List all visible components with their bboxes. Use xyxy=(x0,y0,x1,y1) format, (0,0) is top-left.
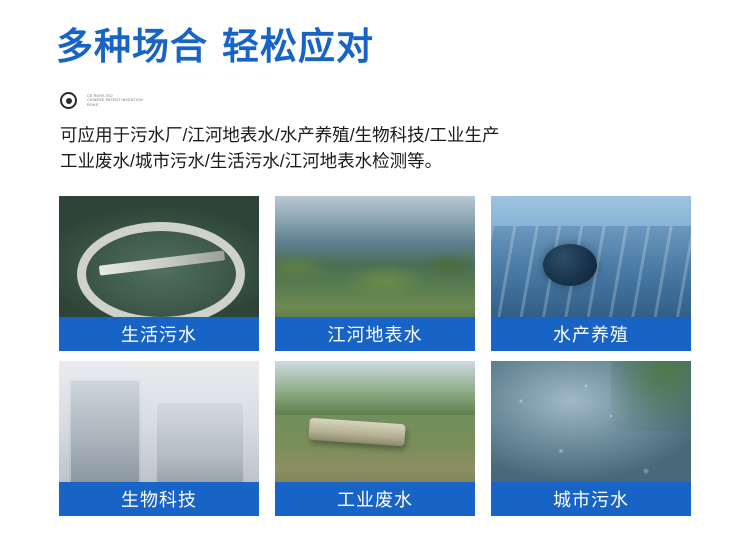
promo-page: 多种场合轻松应对 CE ROHS ISO CHINESE PATENT INVE… xyxy=(0,0,750,541)
description-line-1: 可应用于污水厂/江河地表水/水产养殖/生物科技/工业生产 xyxy=(60,122,499,148)
application-card[interactable]: 城市污水 xyxy=(491,361,691,516)
card-label: 城市污水 xyxy=(491,482,691,516)
certification-line-3: ROHS xyxy=(87,103,98,107)
page-title-part2: 轻松应对 xyxy=(222,26,374,67)
page-title-part1: 多种场合 xyxy=(56,26,208,67)
application-card[interactable]: 生物科技 xyxy=(59,361,259,516)
circle-dot-icon xyxy=(60,92,77,109)
card-label: 生物科技 xyxy=(59,482,259,516)
application-card[interactable]: 工业废水 xyxy=(275,361,475,516)
application-grid: 生活污水 江河地表水 水产养殖 生物科技 工业废水 城市污水 xyxy=(59,196,693,516)
bullet-row: CE ROHS ISO CHINESE PATENT INVENTION ROH… xyxy=(60,92,143,109)
card-label: 工业废水 xyxy=(275,482,475,516)
card-label: 水产养殖 xyxy=(491,317,691,351)
description-line-2: 工业废水/城市污水/生活污水/江河地表水检测等。 xyxy=(60,148,499,174)
application-card[interactable]: 水产养殖 xyxy=(491,196,691,351)
certification-line-1: CE ROHS ISO xyxy=(87,94,113,98)
certification-caption: CE ROHS ISO CHINESE PATENT INVENTION ROH… xyxy=(87,94,143,108)
card-label: 生活污水 xyxy=(59,317,259,351)
page-title: 多种场合轻松应对 xyxy=(56,16,374,70)
application-card[interactable]: 生活污水 xyxy=(59,196,259,351)
certification-line-2: CHINESE PATENT INVENTION xyxy=(87,98,143,102)
description-text: 可应用于污水厂/江河地表水/水产养殖/生物科技/工业生产 工业废水/城市污水/生… xyxy=(60,122,499,174)
application-card[interactable]: 江河地表水 xyxy=(275,196,475,351)
card-label: 江河地表水 xyxy=(275,317,475,351)
